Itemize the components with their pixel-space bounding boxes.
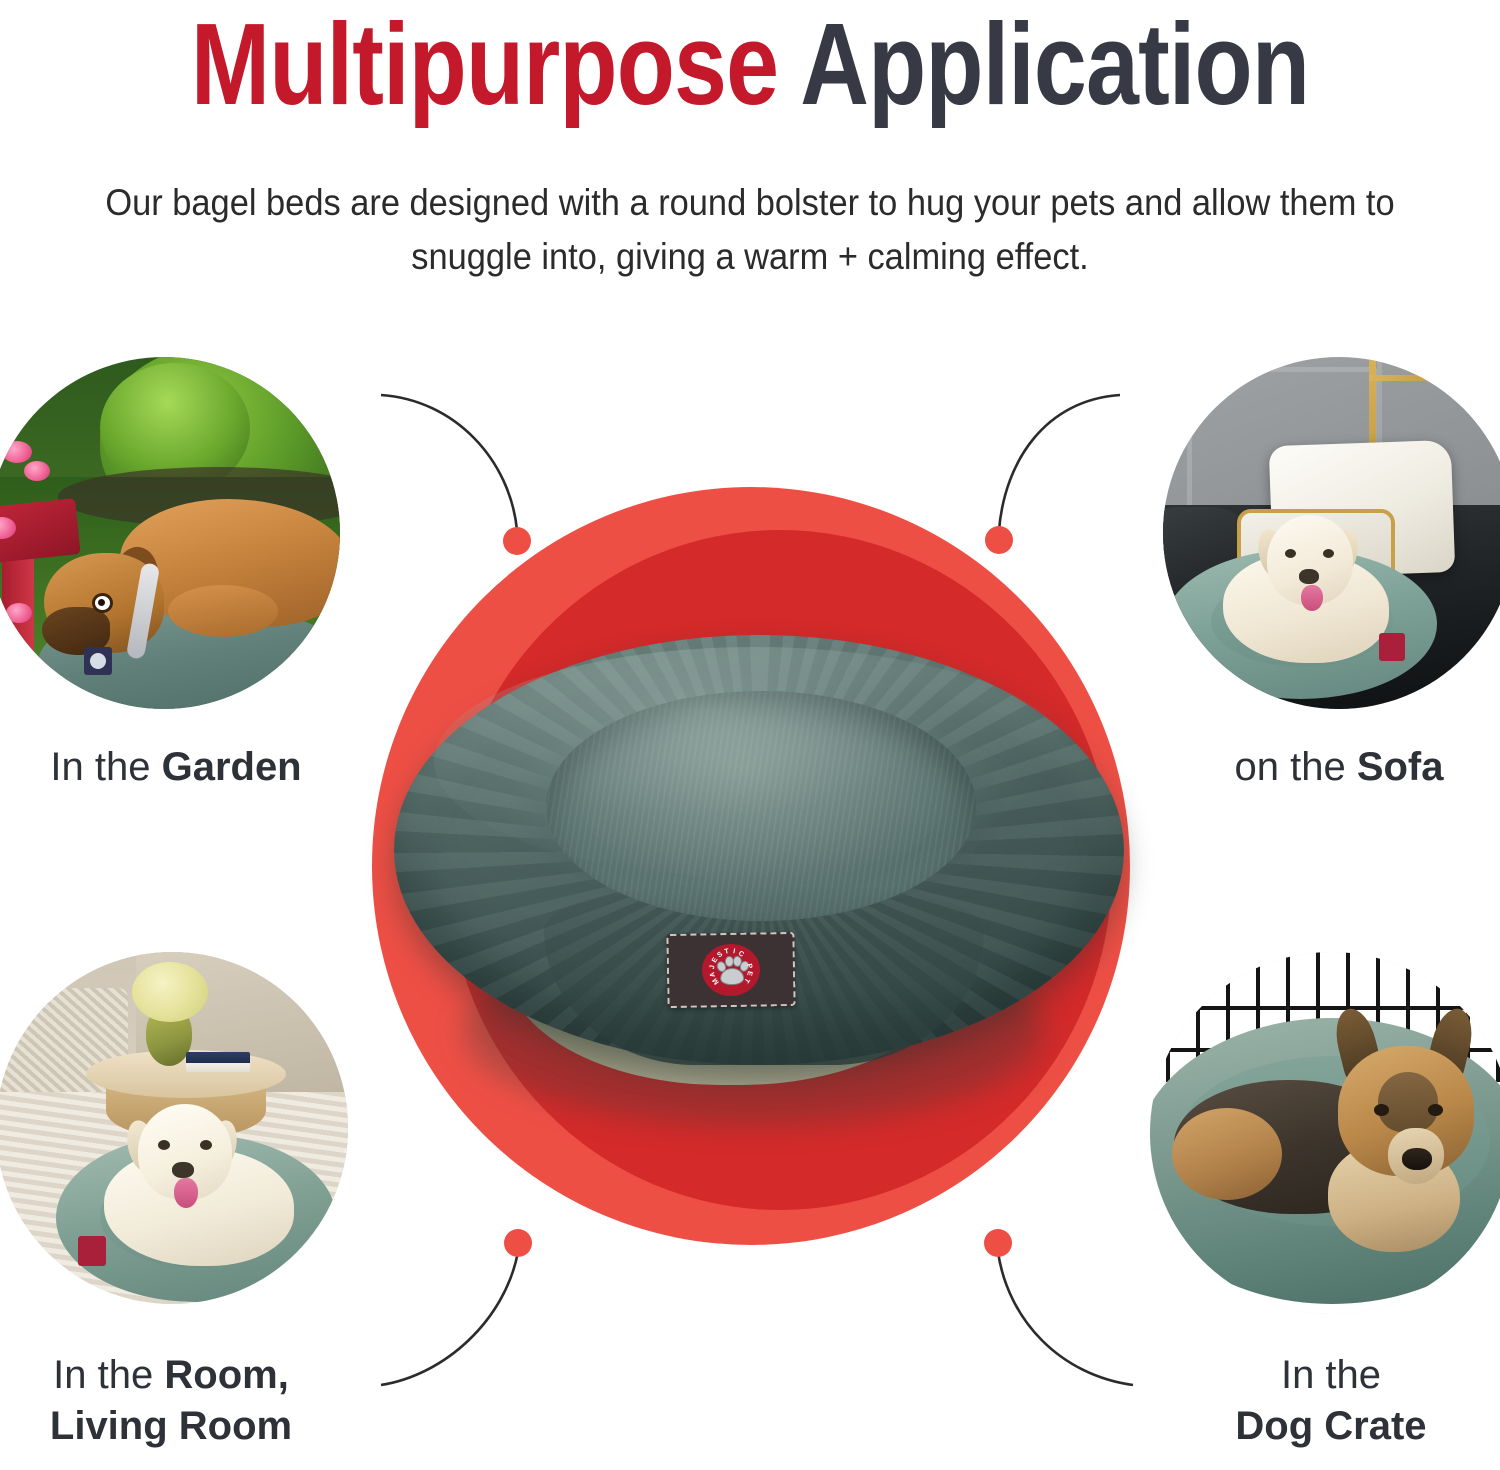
photo-living-room (0, 952, 348, 1304)
bed-cushion (546, 691, 976, 921)
connector-line-dog-crate (998, 1252, 1133, 1385)
page-title-part-1: Multipurpose (191, 0, 778, 129)
caption-garden-bold: Garden (162, 745, 302, 789)
center-product-stage: MAJESTIC PET (372, 487, 1130, 1245)
multipurpose-application-infographic: Multipurpose Application Our bagel beds … (0, 0, 1500, 1470)
caption-sofa-regular: on the (1234, 745, 1356, 789)
caption-living-room-bold-line2: Living Room (50, 1404, 292, 1448)
product-dog-bed: MAJESTIC PET (394, 635, 1124, 1135)
page-title-part-2: Application (800, 0, 1309, 129)
caption-dog-crate-bold-line2: Dog Crate (1235, 1404, 1426, 1448)
photo-dog-crate (1150, 952, 1500, 1314)
cushion-texture (546, 691, 976, 921)
caption-living-room-bold: Room, (164, 1353, 288, 1397)
brand-badge: MAJESTIC PET (702, 943, 761, 996)
connector-dot-dog-crate (984, 1229, 1012, 1257)
brand-wordmark: MAJESTIC PET (702, 943, 761, 996)
caption-garden-regular: In the (50, 745, 161, 789)
caption-dog-crate: In the Dog Crate (1150, 1350, 1500, 1452)
caption-sofa: on the Sofa (1163, 742, 1500, 793)
caption-living-room-regular: In the (53, 1353, 164, 1397)
page-title: Multipurpose Application (135, 6, 1365, 122)
caption-garden: In the Garden (0, 742, 352, 793)
page-subtitle: Our bagel beds are designed with a round… (90, 176, 1411, 283)
caption-living-room: In the Room, Living Room (0, 1350, 356, 1452)
brand-tag: MAJESTIC PET (666, 932, 795, 1008)
connector-dot-sofa (985, 526, 1013, 554)
connector-line-living-room (381, 1252, 518, 1385)
photo-sofa (1163, 357, 1500, 709)
caption-dog-crate-regular: In the (1281, 1353, 1381, 1397)
photo-garden (0, 357, 340, 709)
connector-dot-garden (503, 527, 531, 555)
caption-sofa-bold: Sofa (1357, 745, 1444, 789)
connector-dot-living-room (504, 1229, 532, 1257)
